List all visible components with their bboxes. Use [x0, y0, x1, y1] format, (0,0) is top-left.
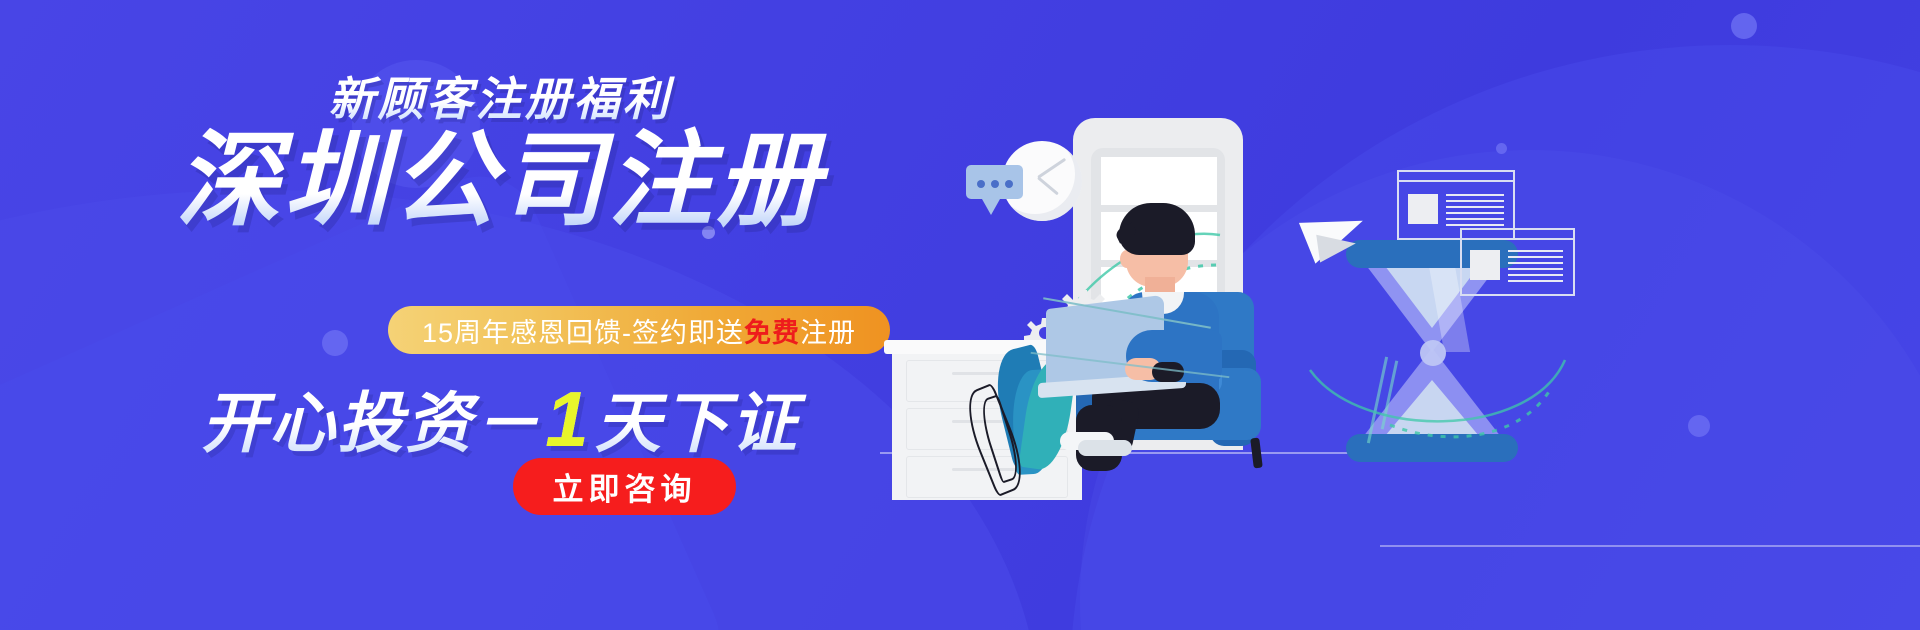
- page-title: 深圳公司注册: [0, 126, 1000, 236]
- promo-pill-suffix: 注册: [800, 311, 856, 350]
- card-title-bar: [1399, 172, 1513, 182]
- promo-pill-prefix: 15周年感恩回馈-签约即送: [422, 311, 744, 350]
- card-text-lines: [1508, 250, 1563, 286]
- sofa-leg: [1250, 438, 1263, 469]
- hero-illustration: [880, 0, 1920, 630]
- consult-now-button[interactable]: 立即咨询: [513, 458, 736, 515]
- subline-number: 1: [541, 375, 594, 463]
- promo-pill: 15周年感恩回馈-签约即送 免费 注册: [388, 306, 890, 354]
- paper-plane-icon-shadow: [1316, 229, 1358, 262]
- promo-pill-highlight: 免费: [744, 311, 800, 350]
- bubble-dot-icon: [977, 180, 985, 188]
- promo-banner: 新顾客注册福利 深圳公司注册 15周年感恩回馈-签约即送 免费 注册 开心投资－…: [0, 0, 1920, 630]
- subline-suffix: 天下证: [595, 386, 799, 460]
- person-shoe: [1078, 440, 1132, 456]
- window-blind: [1101, 157, 1217, 205]
- card-text-lines: [1446, 194, 1504, 230]
- card-title-bar: [1462, 230, 1573, 240]
- orbit-arc-icon: [1300, 330, 1580, 450]
- subline-prefix: 开心投资－: [201, 386, 541, 460]
- card-thumbnail: [1408, 194, 1438, 224]
- bubble-dot-icon: [991, 180, 999, 188]
- banner-eyebrow: 新顾客注册福利: [0, 63, 1000, 129]
- bubble-dot-icon: [1005, 180, 1013, 188]
- card-thumbnail: [1470, 250, 1500, 280]
- banner-subline: 开心投资－1天下证: [0, 370, 1000, 466]
